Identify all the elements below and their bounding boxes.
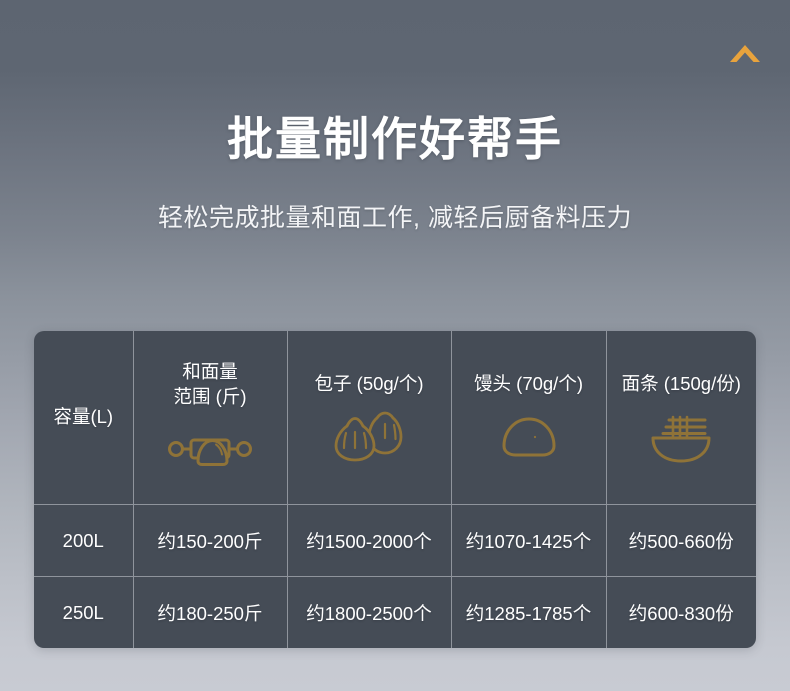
column-header-dough-range: 和面量 范围 (斤): [133, 331, 287, 505]
cell-baozi: 约1500-2000个: [287, 505, 451, 577]
rolling-pin-dough-icon: [167, 423, 253, 475]
specification-table: 容量(L) 和面量 范围 (斤): [34, 331, 756, 648]
cell-dough-range: 约180-250斤: [133, 577, 287, 649]
column-header-mantou: 馒头 (70g/个): [451, 331, 606, 505]
scroll-up-button[interactable]: [726, 38, 764, 68]
page-subtitle: 轻松完成批量和面工作, 减轻后厨备料压力: [0, 198, 790, 234]
cell-baozi: 约1800-2500个: [287, 577, 451, 649]
column-header-label-line2: 范围 (斤): [174, 385, 247, 410]
column-header-label: 馒头 (70g/个): [474, 372, 583, 397]
column-header-label: 面条 (150g/份): [622, 372, 741, 397]
column-header-noodles: 面条 (150g/份): [606, 331, 756, 505]
cell-mantou: 约1285-1785个: [451, 577, 606, 649]
table-header-row: 容量(L) 和面量 范围 (斤): [34, 331, 756, 505]
cell-noodles: 约600-830份: [606, 577, 756, 649]
noodle-bowl-icon: [649, 411, 713, 463]
column-header-label: 包子 (50g/个): [315, 372, 424, 397]
page-title: 批量制作好帮手: [0, 112, 790, 166]
column-header-label-line1: 和面量: [182, 360, 238, 385]
table-row: 200L 约150-200斤 约1500-2000个 约1070-1425个 约…: [34, 505, 756, 577]
cell-capacity: 200L: [34, 505, 133, 577]
column-header-label: 容量(L): [53, 405, 113, 430]
mantou-steamed-bun-icon: [498, 411, 560, 463]
column-header-capacity: 容量(L): [34, 331, 133, 505]
column-header-baozi: 包子 (50g/个): [287, 331, 451, 505]
table-row: 250L 约180-250斤 约1800-2500个 约1285-1785个 约…: [34, 577, 756, 649]
cell-mantou: 约1070-1425个: [451, 505, 606, 577]
cell-capacity: 250L: [34, 577, 133, 649]
baozi-bun-icon: [331, 411, 407, 463]
chevron-up-icon: [728, 42, 762, 64]
cell-dough-range: 约150-200斤: [133, 505, 287, 577]
hero-section: 批量制作好帮手 轻松完成批量和面工作, 减轻后厨备料压力: [0, 112, 790, 234]
cell-noodles: 约500-660份: [606, 505, 756, 577]
